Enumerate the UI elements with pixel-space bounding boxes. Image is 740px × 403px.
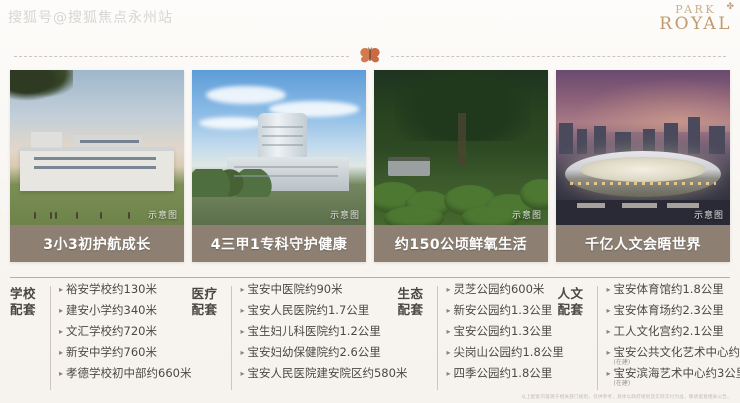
feature-card-school[interactable]: 示意图 3小3初护航成长	[10, 70, 184, 262]
list-item-label: 宝安妇幼保健院约2.6公里	[247, 347, 380, 359]
category-line-2: 配套	[10, 302, 44, 318]
list-item: ▸文汇学校约720米	[59, 326, 191, 347]
bullet-icon: ▸	[446, 286, 450, 294]
list-item-label: 建安小学约340米	[66, 305, 157, 317]
amenities-table: 学校 配套 ▸裕安学校约130米 ▸建安小学约340米 ▸文汇学校约720米 ▸…	[10, 284, 732, 392]
category-line-1: 人文	[557, 286, 591, 302]
list-item: ▸宝安体育馆约1.8公里	[606, 284, 740, 305]
list-item-label: 灵芝公园约600米	[453, 284, 544, 296]
bullet-icon: ▸	[606, 307, 610, 315]
list-item: ▸工人文化宫约2.1公里	[606, 326, 740, 347]
list-item-label: 宝安人民医院建安院区约580米	[247, 368, 407, 380]
amenity-column-culture: 人文 配套 ▸宝安体育馆约1.8公里 ▸宝安体育场约2.3公里 ▸工人文化宫约2…	[557, 284, 740, 392]
card-caption-bar-stadium: 千亿人文会晤世界	[556, 225, 730, 262]
hospital-scene	[192, 70, 366, 225]
disclaimer-text: 以上配套内容源于相关部门规划，仅供参考，具体以政府规划及实际交付为准，敬请留意相…	[521, 394, 732, 400]
category-line-2: 配套	[397, 302, 431, 318]
list-item: ▸宝安人民医院建安院区约580米	[240, 368, 407, 389]
bullet-icon: ▸	[59, 328, 63, 336]
feature-card-row: 示意图 3小3初护航成长	[10, 70, 730, 262]
column-divider	[597, 286, 598, 390]
card-caption-school: 3小3初护航成长	[43, 234, 150, 254]
bullet-icon: ▸	[446, 328, 450, 336]
horizontal-rule	[10, 277, 730, 278]
brand-ornament-icon: ✤	[726, 3, 734, 12]
list-item: ▸宝安中医院约90米	[240, 284, 407, 305]
card-caption-bar-hospital: 4三甲1专科守护健康	[192, 225, 366, 262]
card-caption-bar-school: 3小3初护航成长	[10, 225, 184, 262]
list-item-label: 宝安中医院约90米	[247, 284, 342, 296]
card-photo-hospital: 示意图	[192, 70, 366, 225]
bullet-icon: ▸	[446, 307, 450, 315]
list-item-sublabel: (在建)	[613, 360, 740, 366]
amenity-category-medical: 医疗 配套	[191, 284, 225, 317]
stadium-scene	[556, 70, 730, 225]
bullet-icon: ▸	[240, 328, 244, 336]
park-scene	[374, 70, 548, 225]
bullet-icon: ▸	[59, 286, 63, 294]
feature-card-park[interactable]: 示意图 约150公顷鲜氧生活	[374, 70, 548, 262]
bullet-icon: ▸	[59, 349, 63, 357]
amenity-column-schools: 学校 配套 ▸裕安学校约130米 ▸建安小学约340米 ▸文汇学校约720米 ▸…	[10, 284, 191, 392]
brand-line-2: ROYAL	[659, 16, 732, 33]
bullet-icon: ▸	[606, 286, 610, 294]
amenity-list-medical: ▸宝安中医院约90米 ▸宝安人民医院约1.7公里 ▸宝生妇儿科医院约1.2公里 …	[240, 284, 407, 389]
list-item: ▸裕安学校约130米	[59, 284, 191, 305]
bullet-icon: ▸	[446, 370, 450, 378]
card-photo-park: 示意图	[374, 70, 548, 225]
feature-card-hospital[interactable]: 示意图 4三甲1专科守护健康	[192, 70, 366, 262]
bullet-icon: ▸	[240, 370, 244, 378]
bullet-icon: ▸	[606, 370, 610, 378]
card-tag-hospital: 示意图	[330, 208, 360, 221]
list-item: ▸灵芝公园约600米	[446, 284, 563, 305]
bullet-icon: ▸	[606, 328, 610, 336]
bullet-icon: ▸	[240, 307, 244, 315]
list-item: ▸宝安体育场约2.3公里	[606, 305, 740, 326]
bullet-icon: ▸	[240, 286, 244, 294]
list-item: ▸新安公园约1.3公里	[446, 305, 563, 326]
list-item-label: 尖岗山公园约1.8公里	[453, 347, 563, 359]
list-item-label: 新安中学约760米	[66, 347, 157, 359]
list-item-label: 裕安学校约130米	[66, 284, 157, 296]
list-item-label: 宝安滨海艺术中心约3公里	[613, 368, 740, 380]
amenity-list-schools: ▸裕安学校约130米 ▸建安小学约340米 ▸文汇学校约720米 ▸新安中学约7…	[59, 284, 191, 389]
column-divider	[231, 286, 232, 390]
amenity-category-schools: 学校 配套	[10, 284, 44, 317]
list-item: ▸宝安公园约1.3公里	[446, 326, 563, 347]
list-item-sublabel: (在建)	[613, 381, 740, 387]
list-item-label: 四季公园约1.8公里	[453, 368, 552, 380]
list-item-label: 文汇学校约720米	[66, 326, 157, 338]
bullet-icon: ▸	[606, 349, 610, 357]
list-item-label: 宝安体育场约2.3公里	[613, 305, 723, 317]
list-item-label: 宝安公园约1.3公里	[453, 326, 552, 338]
list-item: ▸新安中学约760米	[59, 347, 191, 368]
list-item: ▸宝安公共文化艺术中心约2.1公里(在建)	[606, 347, 740, 368]
watermark-text: 搜狐号@搜狐焦点永州站	[8, 7, 173, 27]
list-item-label: 孝德学校初中部约660米	[66, 368, 191, 380]
brochure-page: 搜狐号@搜狐焦点永州站 ✤ PARK ROYAL	[0, 0, 740, 403]
list-item: ▸四季公园约1.8公里	[446, 368, 563, 389]
card-caption-park: 约150公顷鲜氧生活	[395, 234, 527, 254]
column-divider	[50, 286, 51, 390]
list-item: ▸宝安人民医院约1.7公里	[240, 305, 407, 326]
amenity-category-culture: 人文 配套	[557, 284, 591, 317]
amenity-column-ecology: 生态 配套 ▸灵芝公园约600米 ▸新安公园约1.3公里 ▸宝安公园约1.3公里…	[397, 284, 557, 392]
butterfly-icon	[359, 47, 381, 65]
section-divider	[0, 46, 740, 66]
list-item-label: 宝安体育馆约1.8公里	[613, 284, 723, 296]
list-item-label: 宝生妇儿科医院约1.2公里	[247, 326, 380, 338]
card-caption-hospital: 4三甲1专科守护健康	[211, 234, 347, 254]
category-line-1: 医疗	[191, 286, 225, 302]
amenity-list-ecology: ▸灵芝公园约600米 ▸新安公园约1.3公里 ▸宝安公园约1.3公里 ▸尖岗山公…	[446, 284, 563, 389]
list-item: ▸尖岗山公园约1.8公里	[446, 347, 563, 368]
card-caption-bar-park: 约150公顷鲜氧生活	[374, 225, 548, 262]
brand-logo: ✤ PARK ROYAL	[659, 4, 732, 33]
feature-card-stadium[interactable]: 示意图 千亿人文会晤世界	[556, 70, 730, 262]
divider-dash-right	[391, 56, 726, 57]
card-photo-school: 示意图	[10, 70, 184, 225]
bullet-icon: ▸	[59, 370, 63, 378]
card-caption-stadium: 千亿人文会晤世界	[585, 234, 701, 254]
list-item: ▸孝德学校初中部约660米	[59, 368, 191, 389]
card-tag-stadium: 示意图	[694, 208, 724, 221]
list-item-label: 宝安人民医院约1.7公里	[247, 305, 369, 317]
list-item-label: 新安公园约1.3公里	[453, 305, 552, 317]
category-line-1: 学校	[10, 286, 44, 302]
amenity-column-medical: 医疗 配套 ▸宝安中医院约90米 ▸宝安人民医院约1.7公里 ▸宝生妇儿科医院约…	[191, 284, 397, 392]
list-item: ▸建安小学约340米	[59, 305, 191, 326]
card-tag-park: 示意图	[512, 208, 542, 221]
list-item-label: 工人文化宫约2.1公里	[613, 326, 723, 338]
category-line-2: 配套	[191, 302, 225, 318]
bullet-icon: ▸	[240, 349, 244, 357]
list-item-label: 宝安公共文化艺术中心约2.1公里	[613, 347, 740, 359]
card-tag-school: 示意图	[148, 208, 178, 221]
school-scene	[10, 70, 184, 225]
category-line-1: 生态	[397, 286, 431, 302]
amenity-category-ecology: 生态 配套	[397, 284, 431, 317]
list-item: ▸宝生妇儿科医院约1.2公里	[240, 326, 407, 347]
bullet-icon: ▸	[59, 307, 63, 315]
category-line-2: 配套	[557, 302, 591, 318]
column-divider	[437, 286, 438, 390]
list-item: ▸宝安滨海艺术中心约3公里(在建)	[606, 368, 740, 389]
amenity-list-culture: ▸宝安体育馆约1.8公里 ▸宝安体育场约2.3公里 ▸工人文化宫约2.1公里 ▸…	[606, 284, 740, 389]
card-photo-stadium: 示意图	[556, 70, 730, 225]
divider-dash-left	[14, 56, 349, 57]
bullet-icon: ▸	[446, 349, 450, 357]
list-item: ▸宝安妇幼保健院约2.6公里	[240, 347, 407, 368]
